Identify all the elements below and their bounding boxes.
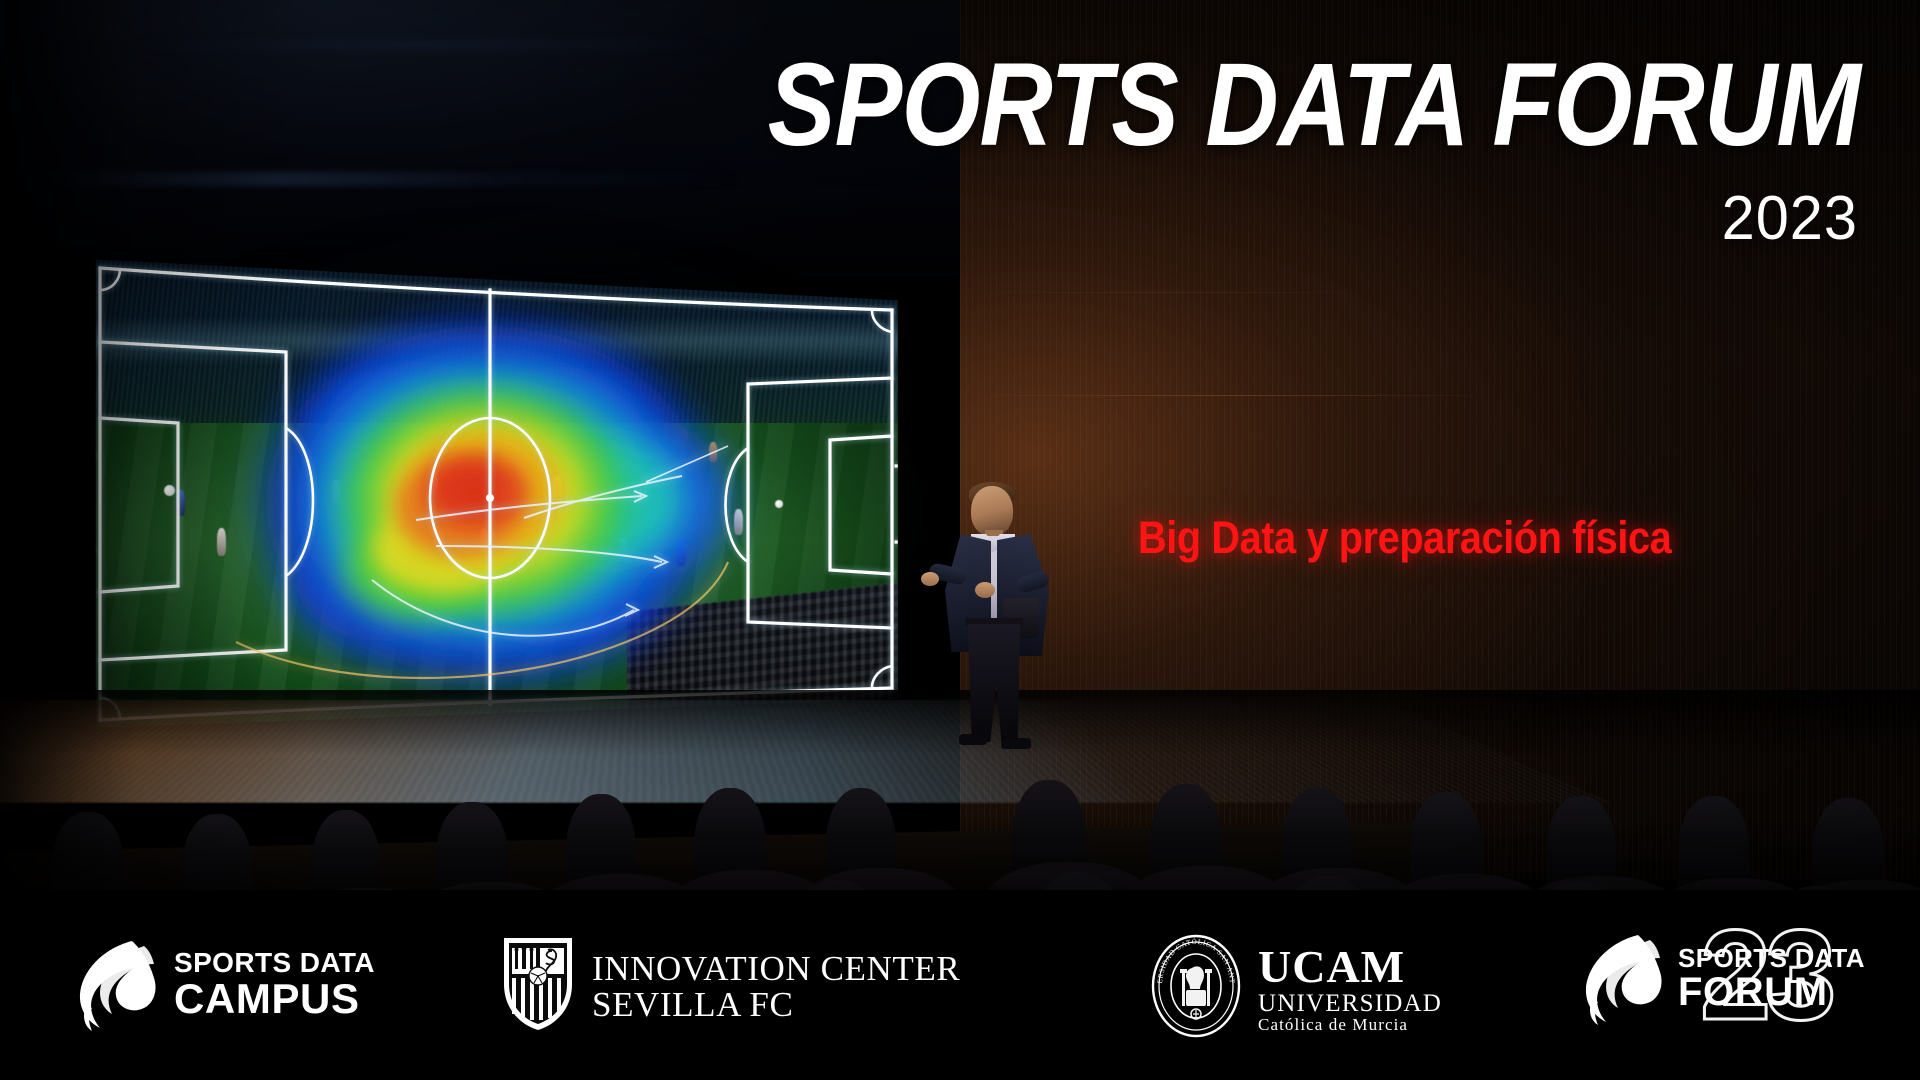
- presenter-hand-left: [921, 572, 939, 586]
- event-year: 2023: [1722, 188, 1858, 250]
- logo-line-1: UCAM: [1258, 944, 1442, 991]
- logo-line-2: UNIVERSIDAD: [1258, 991, 1442, 1017]
- logo-line-1: SPORTS DATA: [1678, 945, 1865, 972]
- logo-line-3: Católica de Murcia: [1258, 1016, 1442, 1033]
- logo-text-block: SPORTS DATA CAMPUS: [174, 949, 375, 1020]
- poster-canvas: SPORTS DATA FORUM 2023 Big Data y prepar…: [0, 0, 1920, 1080]
- presenter-head: [971, 486, 1013, 536]
- logo-innovation-center-sevilla-fc[interactable]: INNOVATION CENTER SEVILLA FC: [500, 934, 960, 1039]
- logo-line-2: SEVILLA FC: [592, 987, 960, 1023]
- logo-text-block: SPORTS DATA FORUM: [1678, 945, 1865, 1012]
- presenter-hand-right: [975, 582, 995, 598]
- logo-line-2: FORUM: [1678, 972, 1865, 1013]
- wall-seam-upper: [960, 292, 1380, 293]
- logo-line-1: INNOVATION CENTER: [592, 951, 960, 987]
- wall-seam: [960, 395, 1500, 396]
- sponsor-logo-bar: SPORTS DATA CAMPUS: [0, 890, 1920, 1080]
- sevilla-fc-crest-icon: [500, 934, 576, 1039]
- screen-surface: [86, 250, 906, 730]
- event-subtitle: Big Data y preparación física: [1138, 512, 1671, 564]
- ucam-seal-icon: UNIVERSIDAD CATÓLICA SAN ANTONIO: [1148, 932, 1244, 1045]
- ceiling-light-bar: [40, 172, 740, 186]
- swoosh-icon: [1580, 930, 1666, 1028]
- logo-text-block: INNOVATION CENTER SEVILLA FC: [592, 951, 960, 1022]
- ceiling-light-bar-upper: [120, 40, 720, 50]
- logo-text-block: UCAM UNIVERSIDAD Católica de Murcia: [1258, 944, 1442, 1034]
- pitch-markings: [86, 250, 906, 730]
- page-title: SPORTS DATA FORUM: [768, 46, 1860, 164]
- presentation-screen: [86, 250, 906, 730]
- logo-sports-data-campus[interactable]: SPORTS DATA CAMPUS: [74, 936, 375, 1034]
- swoosh-icon: [74, 936, 160, 1034]
- logo-line-1: SPORTS DATA: [174, 949, 375, 978]
- logo-ucam[interactable]: UNIVERSIDAD CATÓLICA SAN ANTONIO: [1148, 932, 1442, 1045]
- logo-line-2: CAMPUS: [174, 978, 375, 1021]
- logo-sports-data-forum[interactable]: SPORTS DATA FORUM: [1580, 930, 1865, 1028]
